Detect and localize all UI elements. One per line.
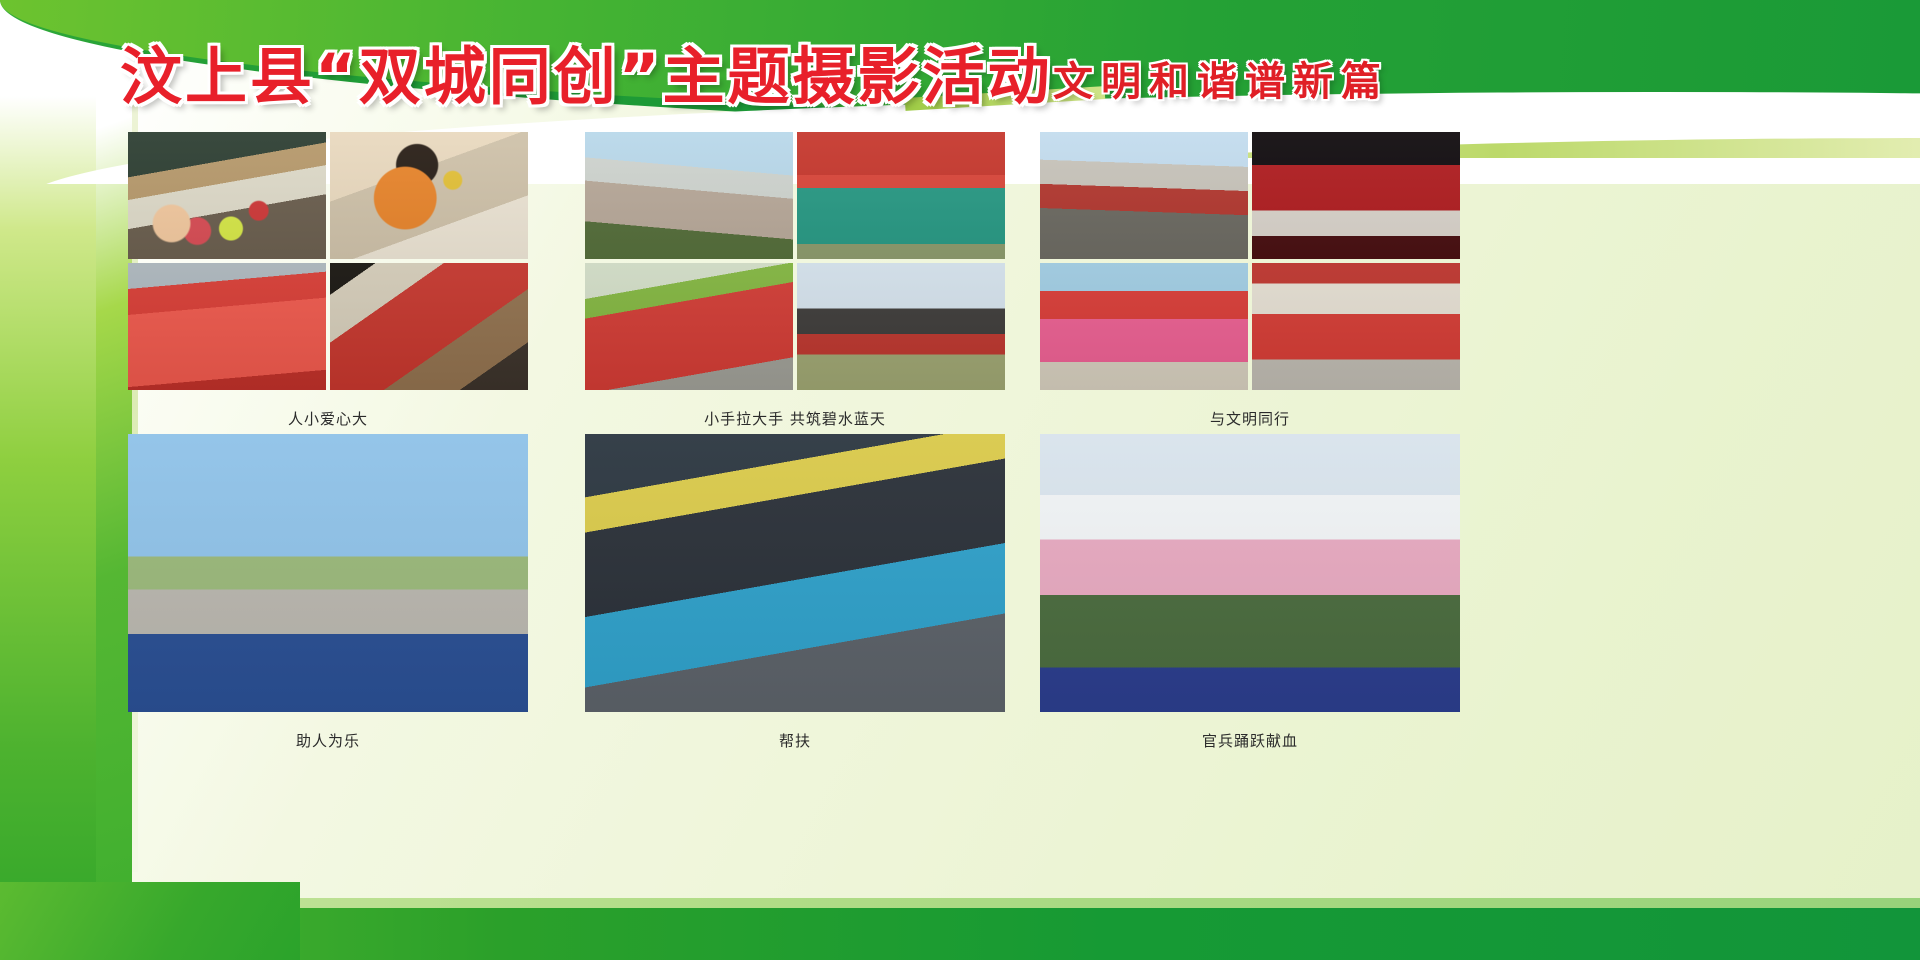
photo-launch-ceremony[interactable] (797, 132, 1005, 259)
photo-outdoor-stage[interactable] (1040, 132, 1248, 259)
photo-indoor-stage[interactable] (1252, 132, 1460, 259)
photo-girl-coin[interactable] (330, 132, 528, 259)
section-1: 人小爱心大 (128, 132, 528, 429)
section-1-caption: 人小爱心大 (128, 408, 528, 429)
bottom-left-green-notch (0, 882, 300, 960)
section-1-photo-grid (128, 132, 528, 390)
photo-students-marching[interactable] (585, 263, 793, 390)
page-subtitle: 文明和谐谱新篇 (1053, 62, 1389, 102)
section-2: 小手拉大手 共筑碧水蓝天 (585, 132, 1005, 429)
photo-volunteer-donation[interactable] (1040, 263, 1248, 390)
page-title: 汶上县“双城同创”主题摄影活动 (120, 46, 1053, 108)
section-2-caption: 小手拉大手 共筑碧水蓝天 (585, 408, 1005, 429)
photo-group-photo[interactable] (1252, 263, 1460, 390)
poster-board: 汶上县“双城同创”主题摄影活动 文明和谐谱新篇 人小爱心大 小手拉大手 共筑碧水… (0, 0, 1920, 960)
photo-school-assembly[interactable] (585, 132, 793, 259)
section-3: 与文明同行 (1040, 132, 1460, 429)
photo-bus-helping-elderly[interactable] (585, 434, 1005, 712)
photo-exhibition-hall[interactable] (330, 263, 528, 390)
feature-2-caption: 帮扶 (585, 730, 1005, 751)
feature-1: 助人为乐 (128, 434, 528, 751)
section-3-photo-grid (1040, 132, 1460, 390)
photo-classroom-donation[interactable] (128, 132, 326, 259)
photo-soldiers-blood-donation[interactable] (1040, 434, 1460, 712)
photo-red-donation-box[interactable] (128, 263, 326, 390)
feature-1-caption: 助人为乐 (128, 730, 528, 751)
feature-3: 官兵踊跃献血 (1040, 434, 1460, 751)
section-3-caption: 与文明同行 (1040, 408, 1460, 429)
photo-archway-group[interactable] (797, 263, 1005, 390)
feature-3-caption: 官兵踊跃献血 (1040, 730, 1460, 751)
feature-2: 帮扶 (585, 434, 1005, 751)
photo-officer-with-child[interactable] (128, 434, 528, 712)
section-2-photo-grid (585, 132, 1005, 390)
